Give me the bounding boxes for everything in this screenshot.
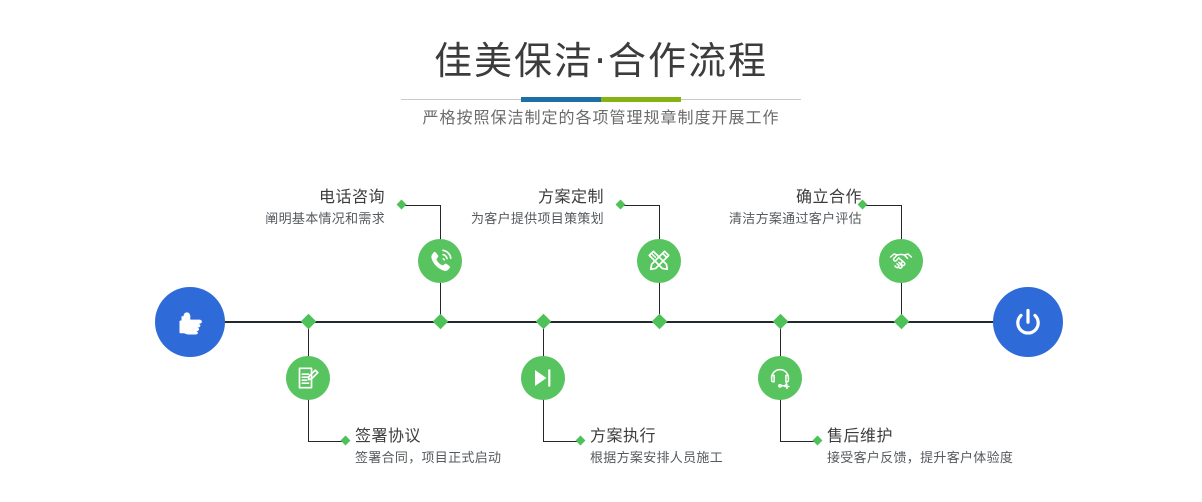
play-forward-icon: [530, 365, 556, 391]
flow-end-node[interactable]: [993, 287, 1063, 357]
step-icon-6[interactable]: [758, 356, 802, 400]
phone-call-icon: [427, 248, 453, 274]
axis-marker-3: [652, 314, 668, 330]
step-desc-6: 接受客户反馈，提升客户体验度: [827, 448, 1013, 470]
step-desc-1: 阐明基本情况和需求: [265, 209, 385, 231]
step-title-4: 方案执行: [590, 425, 723, 447]
axis-marker-4: [536, 314, 552, 330]
step-title-1: 电话咨询: [265, 186, 385, 208]
pointing-hand-icon: [170, 302, 210, 342]
step-desc-2: 签署合同，项目正式启动: [355, 448, 501, 470]
step-label-2: 签署协议 签署合同，项目正式启动: [355, 425, 501, 470]
connector-tip-6: [813, 436, 823, 446]
connector-tip-3: [616, 200, 626, 210]
connector-tip-1: [397, 200, 407, 210]
step-label-6: 售后维护 接受客户反馈，提升客户体验度: [827, 425, 1013, 470]
step-title-5: 确立合作: [729, 186, 862, 208]
axis-marker-1: [433, 314, 449, 330]
axis-marker-2: [301, 314, 317, 330]
step-icon-4[interactable]: [521, 356, 565, 400]
step-desc-4: 根据方案安排人员施工: [590, 448, 723, 470]
document-edit-icon: [295, 365, 321, 391]
handshake-icon: [888, 248, 914, 274]
step-icon-3[interactable]: [637, 239, 681, 283]
step-icon-1[interactable]: [418, 239, 462, 283]
step-title-6: 售后维护: [827, 425, 1013, 447]
step-title-2: 签署协议: [355, 425, 501, 447]
pencil-ruler-icon: [646, 248, 672, 274]
step-desc-5: 清洁方案通过客户评估: [729, 209, 862, 231]
step-title-3: 方案定制: [471, 186, 604, 208]
step-desc-3: 为客户提供项目策策划: [471, 209, 604, 231]
flow-start-node[interactable]: [155, 287, 225, 357]
power-icon: [1008, 302, 1048, 342]
connector-elbow-5: [863, 205, 901, 206]
connector-elbow-3: [621, 205, 659, 206]
step-icon-5[interactable]: [879, 239, 923, 283]
connector-elbow-1: [402, 205, 440, 206]
step-label-1: 电话咨询 阐明基本情况和需求: [265, 186, 385, 231]
connector-tip-2: [341, 436, 351, 446]
step-label-5: 确立合作 清洁方案通过客户评估: [729, 186, 862, 231]
step-icon-2[interactable]: [286, 356, 330, 400]
connector-tip-4: [576, 436, 586, 446]
axis-marker-6: [773, 314, 789, 330]
step-label-4: 方案执行 根据方案安排人员施工: [590, 425, 723, 470]
customer-service-add-icon: [767, 365, 793, 391]
axis-marker-5: [894, 314, 910, 330]
step-label-3: 方案定制 为客户提供项目策策划: [471, 186, 604, 231]
process-flow-diagram: 电话咨询 阐明基本情况和需求 签署协议 签署合同，项目正式启动: [0, 0, 1202, 502]
